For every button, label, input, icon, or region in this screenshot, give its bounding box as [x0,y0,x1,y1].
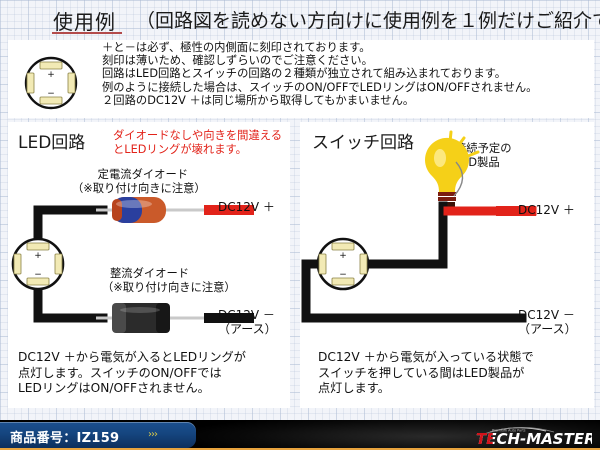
led-connector-icon: + − [13,239,63,289]
constant-current-diode [112,197,166,223]
switch-volt-minus-line2: （アース） [518,322,577,336]
intro-line-5: ２回路のDC12V ＋は同じ場所から取得してもかまいません。 [102,94,594,107]
intro-line-4: 例のように接続した場合は、スイッチのON/OFFでLEDリングはON/OFFされ… [102,81,594,94]
switch-voltage-plus: DC12V ＋ [518,203,575,217]
led-voltage-minus: DC12V － （アース） [218,308,277,336]
page-title: 使用例 [53,6,116,35]
led-volt-minus-line2: （アース） [218,322,277,336]
svg-text:−: − [47,89,55,99]
switch-caption-line3: 点灯します。 [318,381,534,397]
switch-voltage-minus: DC12V － （アース） [518,308,577,336]
led-volt-minus-line1: DC12V － [218,308,277,322]
intro-line-1: ＋と－は必ず、極性の内側面に刻印されております。 [102,41,594,54]
brand-logo: Premium Auto Parts TECH-MASTER TECH-MAST… [432,423,592,447]
brand-name: TECH-MASTER [476,430,592,447]
rectifier-diode [112,303,170,333]
led-voltage-plus: DC12V ＋ [218,200,275,214]
sku-label: 商品番号：IZ159 [10,427,119,446]
connector-icon: + − [18,52,84,114]
intro-text: ＋と－は必ず、極性の内側面に刻印されております。 刻印は薄いため、確認しずらいの… [102,41,594,107]
switch-volt-minus-line1: DC12V － [518,308,577,322]
footer-bar: 商品番号：IZ159 ››› Premium Auto Parts TECH-M… [0,420,600,450]
led-caption-line3: LEDリングはON/OFFされません。 [18,381,246,397]
led-caption-line1: DC12V ＋から電気が入るとLEDリングが [18,350,246,366]
switch-connector-icon: + − [318,239,368,289]
intro-line-3: 回路はLED回路とスイッチの回路の２種類が独立されて組み込まれております。 [102,67,594,80]
svg-text:+: + [47,70,55,80]
switch-caption: DC12V ＋から電気が入っている状態で スイッチを押している間はLED製品が … [318,350,534,397]
svg-text:−: − [34,270,42,280]
page-subtitle: （回路図を読めない方向けに使用例を１例だけご紹介です。） [136,6,600,33]
switch-caption-line1: DC12V ＋から電気が入っている状態で [318,350,534,366]
svg-text:+: + [339,251,347,261]
svg-text:+: + [34,251,42,261]
header: 使用例 （回路図を読めない方向けに使用例を１例だけご紹介です。） [8,4,594,36]
title-underline [52,32,122,34]
intro-line-2: 刻印は薄いため、確認しずらいのでご注意ください。 [102,54,594,67]
switch-caption-line2: スイッチを押している間はLED製品が [318,366,534,382]
led-caption-line2: 点灯します。スイッチのON/OFFでは [18,366,246,382]
svg-text:−: − [339,270,347,280]
led-caption: DC12V ＋から電気が入るとLEDリングが 点灯します。スイッチのON/OFF… [18,350,246,397]
chevrons-icon: ››› [148,429,157,440]
